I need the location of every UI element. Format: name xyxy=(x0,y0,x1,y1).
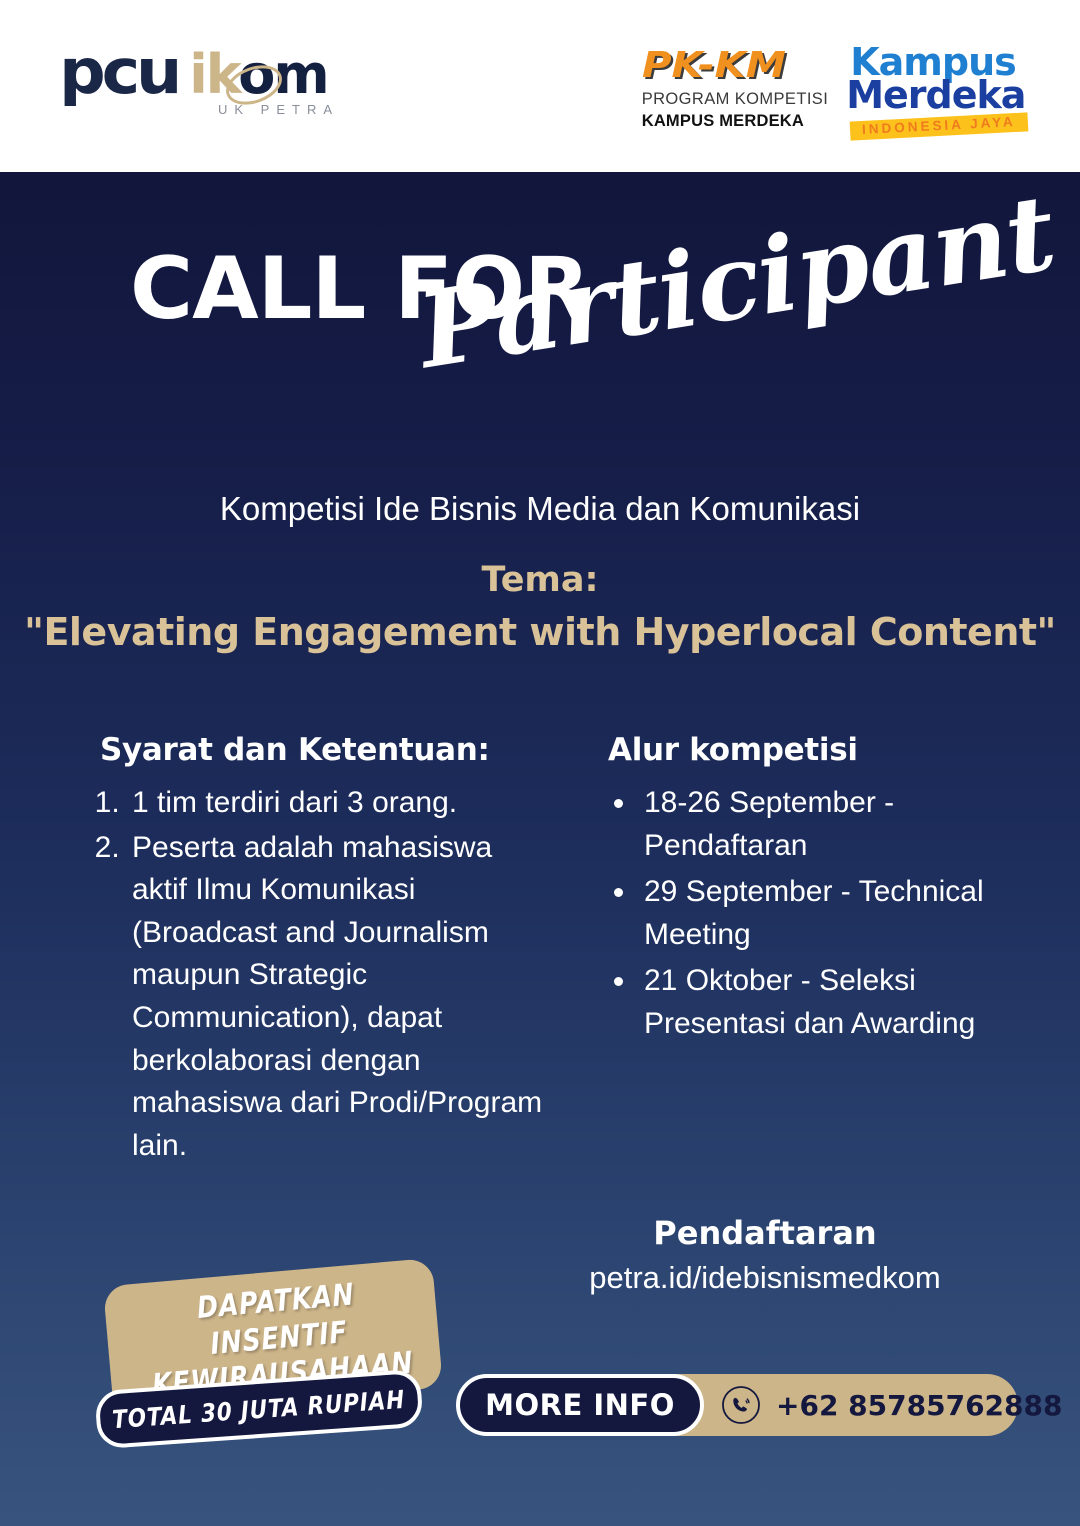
registration-section: Pendaftaran petra.id/idebisnismedkom xyxy=(470,1214,1060,1296)
theme-value: "Elevating Engagement with Hyperlocal Co… xyxy=(0,610,1080,654)
pcu-ikom-logo: pcu ikom UK PETRA xyxy=(62,44,339,117)
incentive-total-label: TOTAL 30 JUTA RUPIAH xyxy=(112,1384,407,1433)
poster-body: CALL FOR Participant Kompetisi Ide Bisni… xyxy=(0,172,1080,1526)
requirements-section: Syarat dan Ketentuan: 1 tim terdiri dari… xyxy=(86,732,546,1169)
theme-label: Tema: xyxy=(0,560,1080,600)
hero-subtitle: Kompetisi Ide Bisnis Media dan Komunikas… xyxy=(0,490,1080,528)
registration-url[interactable]: petra.id/idebisnismedkom xyxy=(470,1260,1060,1296)
ikom-wordmark-first: ik xyxy=(189,43,238,106)
requirements-heading: Syarat dan Ketentuan: xyxy=(100,732,546,768)
pcu-wordmark: pcu xyxy=(59,44,178,100)
logo-left-row: pcu ikom xyxy=(62,44,328,100)
list-item: Peserta adalah mahasiswa aktif Ilmu Komu… xyxy=(128,827,546,1168)
list-item: 29 September - Technical Meeting xyxy=(638,871,1020,956)
phone-icon xyxy=(720,1384,762,1426)
list-item: 1 tim terdiri dari 3 orang. xyxy=(128,782,546,825)
kampus-merdeka-ribbon: INDONESIA JAYA xyxy=(850,112,1029,140)
flow-list: 18-26 September - Pendaftaran 29 Septemb… xyxy=(600,782,1020,1046)
ikom-wordmark-second: om xyxy=(238,43,327,106)
kampus-merdeka-line2: Merdeka xyxy=(846,79,1028,112)
flow-heading: Alur kompetisi xyxy=(608,732,1020,768)
requirements-list: 1 tim terdiri dari 3 orang. Peserta adal… xyxy=(86,782,546,1167)
flow-section: Alur kompetisi 18-26 September - Pendaft… xyxy=(600,732,1020,1050)
ikom-wordmark: ikom xyxy=(189,51,327,100)
kampus-merdeka-logo: Kampus Merdeka INDONESIA JAYA xyxy=(850,46,1028,136)
partner-logos: PK-KM PROGRAM KOMPETISI KAMPUS MERDEKA K… xyxy=(642,46,1028,136)
registration-heading: Pendaftaran xyxy=(470,1214,1060,1252)
contact-bar: MORE INFO +62 85785762888 xyxy=(458,1374,1018,1436)
hero-title-script: Participant xyxy=(412,180,1061,383)
hero-title: CALL FOR Participant xyxy=(0,232,1080,422)
pkkm-wordmark: PK-KM xyxy=(642,48,786,84)
more-info-button[interactable]: MORE INFO xyxy=(456,1374,704,1436)
more-info-button-label: MORE INFO xyxy=(485,1388,675,1422)
poster-root: pcu ikom UK PETRA PK-KM PROGRAM KOMPETIS… xyxy=(0,0,1080,1526)
pkkm-logo: PK-KM PROGRAM KOMPETISI KAMPUS MERDEKA xyxy=(642,46,829,131)
pkkm-subtitle-line1: PROGRAM KOMPETISI xyxy=(642,90,829,109)
contact-phone-number[interactable]: +62 85785762888 xyxy=(776,1389,1062,1422)
pkkm-subtitle-line2: KAMPUS MERDEKA xyxy=(642,112,829,131)
list-item: 21 Oktober - Seleksi Presentasi dan Awar… xyxy=(638,960,1020,1045)
list-item: 18-26 September - Pendaftaran xyxy=(638,782,1020,867)
header-logo-band: pcu ikom UK PETRA PK-KM PROGRAM KOMPETIS… xyxy=(0,0,1080,172)
